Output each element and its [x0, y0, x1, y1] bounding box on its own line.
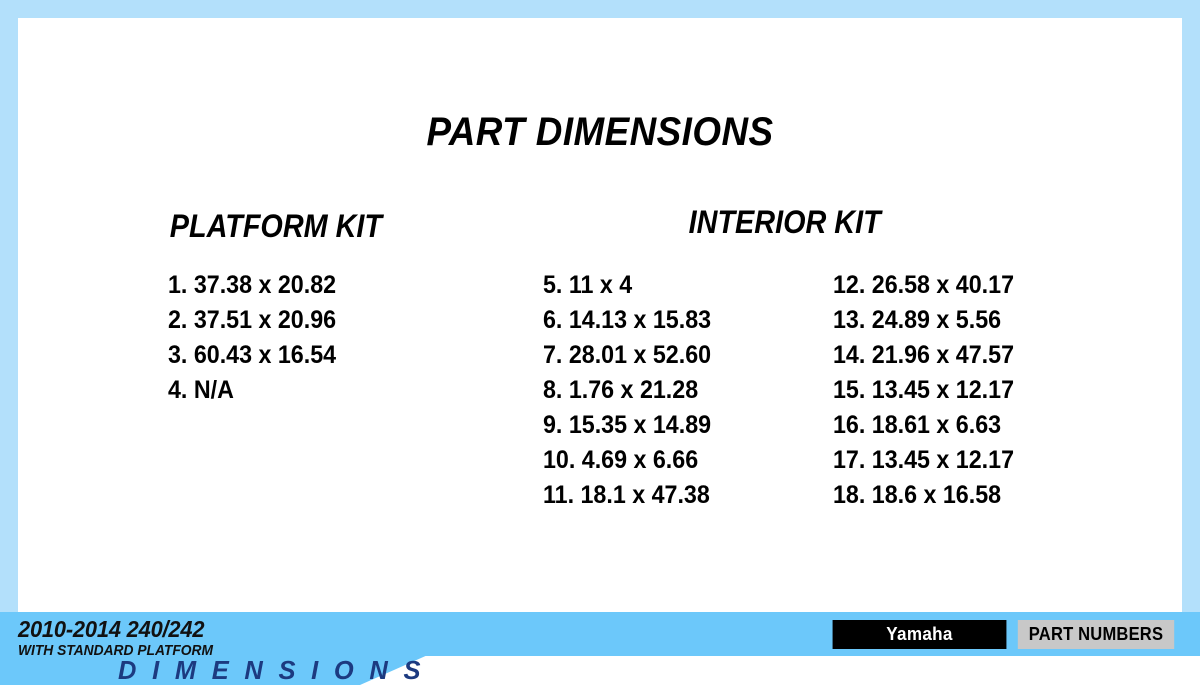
badge-category-label: PART NUMBERS — [1018, 620, 1174, 649]
list-item: 7. 28.01 x 52.60 — [543, 338, 711, 373]
frame-border-left — [0, 0, 18, 685]
section-heading-interior-kit: INTERIOR KIT — [689, 204, 881, 241]
list-item: 6. 14.13 x 15.83 — [543, 303, 711, 338]
list-item: 13. 24.89 x 5.56 — [833, 303, 1014, 338]
list-item: 8. 1.76 x 21.28 — [543, 373, 711, 408]
list-item: 4. N/A — [168, 373, 336, 408]
list-item: 11. 18.1 x 47.38 — [543, 478, 711, 513]
frame-border-right — [1182, 0, 1200, 685]
list-item: 2. 37.51 x 20.96 — [168, 303, 336, 338]
content-area: PART DIMENSIONS PLATFORM KIT 1. 37.38 x … — [18, 18, 1182, 598]
list-item: 1. 37.38 x 20.82 — [168, 268, 336, 303]
list-item: 12. 26.58 x 40.17 — [833, 268, 1014, 303]
platform-kit-dimension-list: 1. 37.38 x 20.82 2. 37.51 x 20.96 3. 60.… — [168, 268, 349, 408]
list-item: 14. 21.96 x 47.57 — [833, 338, 1014, 373]
frame-border-top — [0, 0, 1200, 18]
part-numbers-badge: Yamaha PART NUMBERS — [828, 620, 1181, 649]
footer-model-years: 2010-2014 240/242 — [18, 616, 204, 643]
part-dimensions-sheet: PART DIMENSIONS PLATFORM KIT 1. 37.38 x … — [0, 0, 1200, 685]
list-item: 18. 18.6 x 16.58 — [833, 478, 1014, 513]
footer-category-word: DIMENSIONS — [118, 655, 436, 685]
interior-kit-dimension-list-column-b: 12. 26.58 x 40.17 13. 24.89 x 5.56 14. 2… — [833, 268, 1028, 513]
interior-kit-dimension-list-column-a: 5. 11 x 4 6. 14.13 x 15.83 7. 28.01 x 52… — [543, 268, 724, 513]
page-title: PART DIMENSIONS — [65, 110, 1136, 155]
list-item: 17. 13.45 x 12.17 — [833, 443, 1014, 478]
badge-brand-label: Yamaha — [833, 620, 1007, 649]
list-item: 9. 15.35 x 14.89 — [543, 408, 711, 443]
list-item: 16. 18.61 x 6.63 — [833, 408, 1014, 443]
list-item: 5. 11 x 4 — [543, 268, 711, 303]
list-item: 10. 4.69 x 6.66 — [543, 443, 711, 478]
list-item: 15. 13.45 x 12.17 — [833, 373, 1014, 408]
list-item: 3. 60.43 x 16.54 — [168, 338, 336, 373]
section-heading-platform-kit: PLATFORM KIT — [170, 208, 382, 245]
